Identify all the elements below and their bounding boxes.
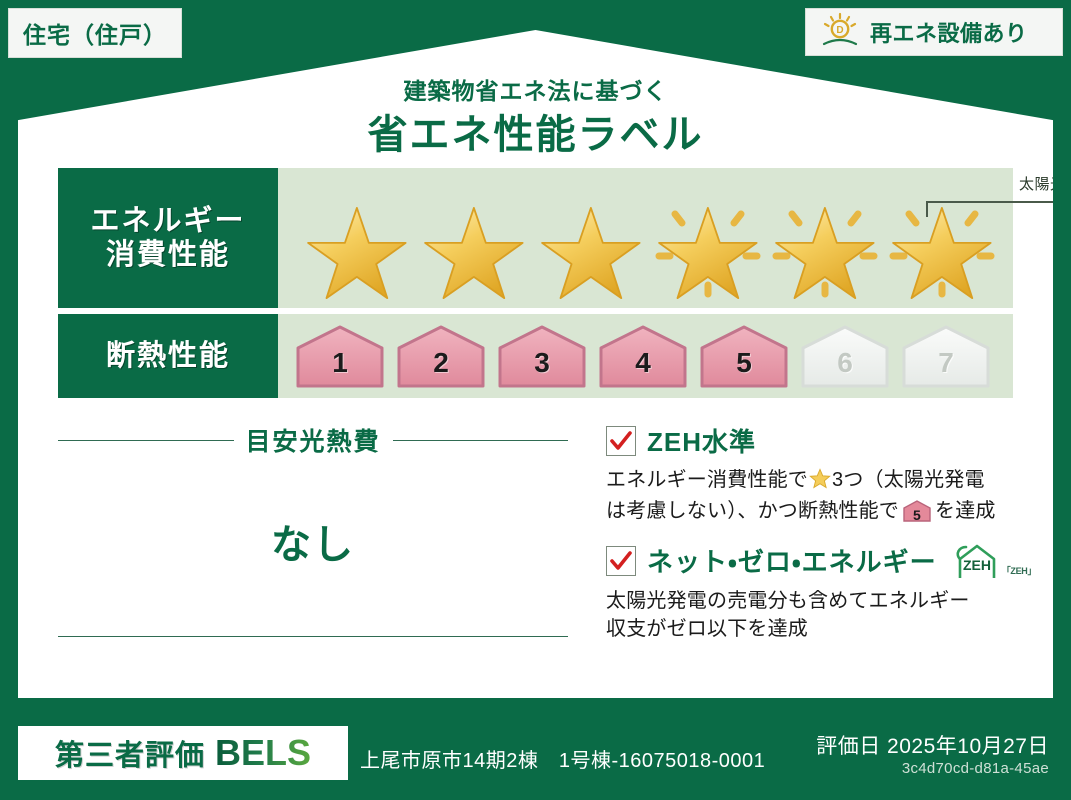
property-identifier: 上尾市原市14期2棟 1号棟-16075018-0001 bbox=[360, 744, 765, 773]
insulation-level-2: 2 bbox=[395, 323, 487, 389]
claim-zeh-standard-body: エネルギー消費性能で3つ（太陽光発電は考慮しない）、かつ断熱性能で5を達成 bbox=[606, 466, 1058, 526]
energy-star bbox=[883, 190, 1001, 302]
energy-star bbox=[649, 190, 767, 302]
housing-type-badge: 住宅（住戸） bbox=[8, 8, 182, 58]
claim-net-zero-energy: ネット・ゼロ・エネルギー ZEH 「ZEH」 太陽光発電の売電分も含めてエネルギ… bbox=[606, 542, 1058, 644]
check-icon bbox=[609, 429, 633, 453]
svg-text:D: D bbox=[836, 25, 843, 36]
solar-sun-icon: D bbox=[818, 12, 862, 53]
claim-zeh-standard-head: ZEH水準 bbox=[606, 422, 1058, 459]
zeh-claims-block: ZEH水準 エネルギー消費性能で3つ（太陽光発電は考慮しない）、かつ断熱性能で5… bbox=[606, 422, 1058, 660]
insulation-level-1: 1 bbox=[294, 323, 386, 389]
label-hash: 3c4d70cd-d81a-45ae bbox=[902, 760, 1049, 777]
utility-cost-bottom-rule bbox=[58, 636, 568, 637]
divider-left bbox=[58, 440, 234, 441]
insulation-level-scale: 1234567 bbox=[278, 314, 1013, 398]
housing-type-label: 住宅（住戸） bbox=[23, 16, 167, 50]
zeh-logo: ZEH 「ZEH」 bbox=[954, 542, 1037, 580]
energy-star bbox=[298, 190, 416, 302]
insulation-level-5: 5 bbox=[698, 323, 790, 389]
energy-star-rating bbox=[278, 168, 1013, 308]
bels-jp-label: 第三者評価 bbox=[55, 732, 205, 774]
checkbox-zeh-standard[interactable] bbox=[606, 426, 636, 456]
utility-cost-title: 目安光熱費 bbox=[246, 422, 381, 458]
claim-net-zero-energy-title: ネット・ゼロ・エネルギー bbox=[647, 542, 937, 579]
zeh-house-icon: ZEH bbox=[954, 542, 1000, 580]
divider-right bbox=[393, 440, 569, 441]
insulation-performance-body: 1234567 bbox=[278, 314, 1013, 398]
energy-star bbox=[532, 190, 650, 302]
insulation-performance-row: 断熱性能 1234567 bbox=[58, 314, 1013, 398]
label-card: 建築物省エネ法に基づく 省エネ性能ラベル エネルギー 消費性能 太陽光発電(自家… bbox=[18, 30, 1053, 698]
renewable-equipment-label: 再エネ設備あり bbox=[870, 16, 1028, 48]
star-icon bbox=[809, 468, 831, 497]
insulation-level-4: 4 bbox=[597, 323, 689, 389]
insulation-level-3: 3 bbox=[496, 323, 588, 389]
zeh-logo-caption: 「ZEH」 bbox=[1002, 564, 1037, 580]
bels-logo: 第三者評価 BELS bbox=[18, 726, 348, 780]
energy-performance-label: エネルギー 消費性能 bbox=[58, 168, 278, 308]
page-title: 省エネ性能ラベル bbox=[18, 102, 1053, 160]
evaluation-date: 評価日 2025年10月27日 bbox=[816, 730, 1049, 760]
renewable-equipment-badge: D 再エネ設備あり bbox=[805, 8, 1063, 56]
bels-label-page: 住宅（住戸） D 再エネ設備あり 建築物省エネ法に基づく 省エネ性能ラ bbox=[0, 0, 1071, 800]
energy-performance-body: 太陽光発電(自家消費)分 bbox=[278, 168, 1013, 308]
claim-net-zero-energy-head: ネット・ゼロ・エネルギー ZEH 「ZEH」 bbox=[606, 542, 1058, 580]
utility-cost-heading: 目安光熱費 bbox=[58, 422, 568, 458]
claim-net-zero-energy-body: 太陽光発電の売電分も含めてエネルギー収支がゼロ以下を達成 bbox=[606, 587, 1058, 644]
claim-zeh-standard: ZEH水準 エネルギー消費性能で3つ（太陽光発電は考慮しない）、かつ断熱性能で5… bbox=[606, 422, 1058, 526]
insulation-level-inline-icon: 5 bbox=[902, 500, 932, 522]
utility-cost-block: 目安光熱費 なし bbox=[58, 422, 568, 637]
footer: 第三者評価 BELS 上尾市原市14期2棟 1号棟-16075018-0001 … bbox=[0, 708, 1071, 800]
claim-zeh-standard-title: ZEH水準 bbox=[647, 422, 756, 459]
insulation-level-6: 6 bbox=[799, 323, 891, 389]
checkbox-net-zero-energy[interactable] bbox=[606, 546, 636, 576]
energy-star bbox=[415, 190, 533, 302]
bels-en-label: BELS bbox=[215, 732, 311, 774]
insulation-level-7: 7 bbox=[900, 323, 992, 389]
insulation-performance-label: 断熱性能 bbox=[58, 314, 278, 398]
check-icon bbox=[609, 549, 633, 573]
utility-cost-value: なし bbox=[58, 512, 568, 570]
energy-performance-row: エネルギー 消費性能 太陽光発電(自家消費)分 bbox=[58, 168, 1013, 308]
energy-star bbox=[766, 190, 884, 302]
svg-text:ZEH: ZEH bbox=[963, 557, 991, 573]
